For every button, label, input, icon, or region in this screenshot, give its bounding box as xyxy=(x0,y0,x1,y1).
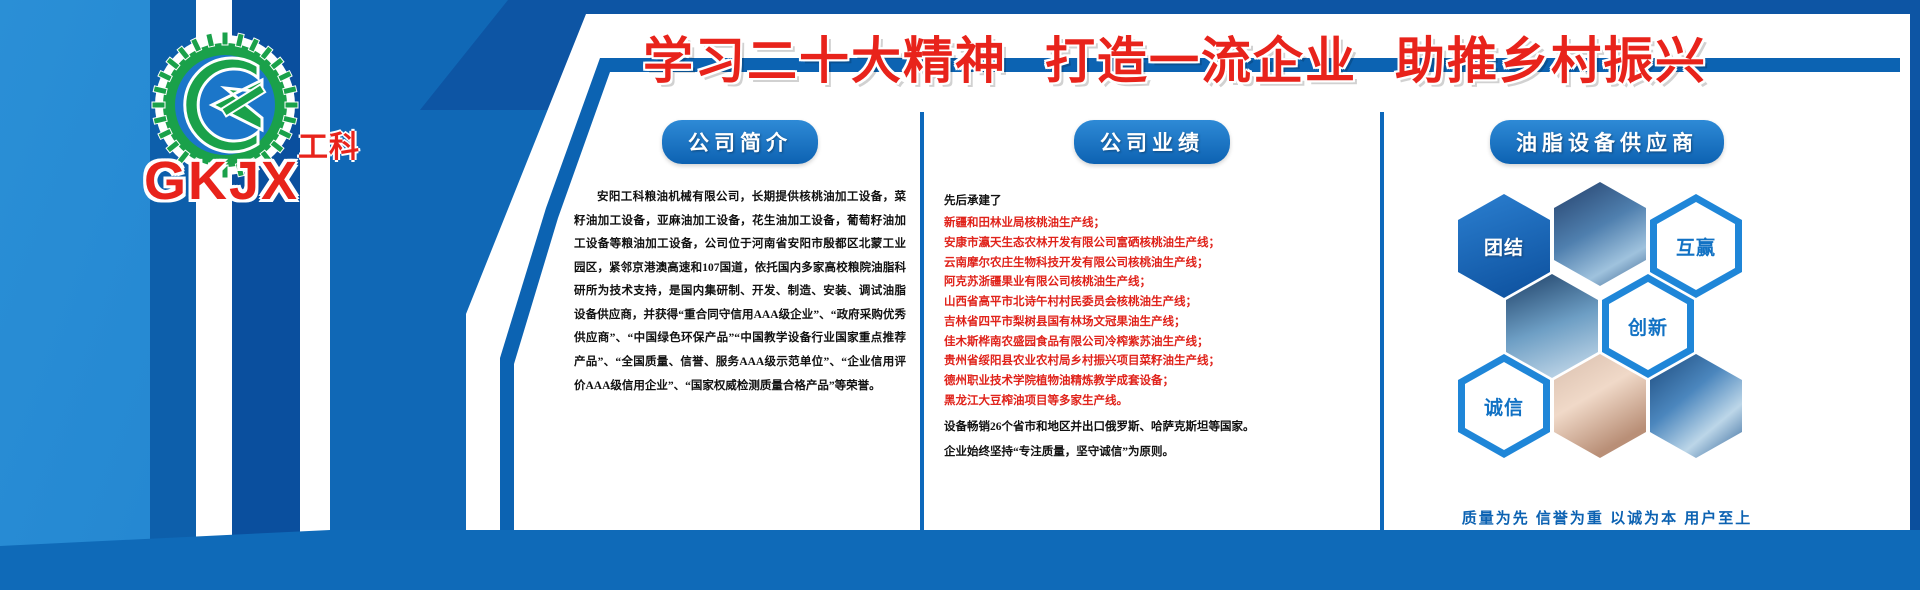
hex-huying: 互赢 xyxy=(1650,194,1742,298)
list-item: 黑龙江大豆榨油项目等多家生产线。 xyxy=(944,392,1360,412)
list-item: 新疆和田林业局核桃油生产线； xyxy=(944,214,1360,234)
panel-oil-equipment-supplier: 油脂设备供应商 团结 互赢 创新 诚信 xyxy=(1380,112,1830,532)
hex-tuanjie: 团结 xyxy=(1458,194,1550,298)
building-photo-icon xyxy=(1650,354,1742,458)
hex-label: 创新 xyxy=(1628,313,1668,340)
industry-photo-icon xyxy=(1506,274,1598,378)
hex-cluster: 团结 互赢 创新 诚信 xyxy=(1400,182,1820,472)
list-item: 佳木斯桦南农盛园食品有限公司冷榨紫苏油生产线； xyxy=(944,333,1360,353)
company-logo: 工科 GKJX xyxy=(120,30,380,240)
list-item: 吉林省四平市梨树县国有林场文冠果油生产线； xyxy=(944,313,1360,333)
achievements-tail-2: 企业始终坚持“专注质量，坚守诚信”为原则。 xyxy=(944,443,1360,463)
headline-part-3: 助推乡村振兴 xyxy=(1395,21,1707,93)
achievements-tail-1: 设备畅销26个省市和地区并出口俄罗斯、哈萨克斯坦等国家。 xyxy=(944,418,1360,438)
hex-chuangxin: 创新 xyxy=(1602,274,1694,378)
headline-part-1: 学习二十大精神 xyxy=(643,21,1007,93)
list-item: 云南摩尔农庄生物科技开发有限公司核桃油生产线； xyxy=(944,254,1360,274)
logo-english-text: GKJX xyxy=(144,150,299,212)
hex-label: 互赢 xyxy=(1676,233,1716,260)
panel-title-achievements: 公司业绩 xyxy=(1074,120,1230,164)
panel-company-profile: 公司简介 安阳工科粮油机械有限公司，长期提供核桃油加工设备，菜籽油加工设备，亚麻… xyxy=(560,112,920,532)
handshake-photo-icon xyxy=(1554,354,1646,458)
list-item: 安康市瀛天生态农林开发有限公司富硒核桃油生产线； xyxy=(944,234,1360,254)
content-columns: 公司简介 安阳工科粮油机械有限公司，长期提供核桃油加工设备，菜籽油加工设备，亚麻… xyxy=(560,112,1890,532)
hex-label: 团结 xyxy=(1484,233,1524,260)
list-item: 贵州省绥阳县农业农村局乡村振兴项目菜籽油生产线； xyxy=(944,352,1360,372)
logo-chinese-text: 工科 xyxy=(298,122,360,166)
list-item: 山西省高平市北诗午村村民委员会核桃油生产线； xyxy=(944,293,1360,313)
list-item: 阿克苏浙疆果业有限公司核桃油生产线； xyxy=(944,273,1360,293)
ship-photo-icon xyxy=(1554,182,1646,286)
panel-title-profile: 公司简介 xyxy=(662,120,818,164)
company-profile-text: 安阳工科粮油机械有限公司，长期提供核桃油加工设备，菜籽油加工设备，亚麻油加工设备… xyxy=(574,186,906,398)
list-item: 德州职业技术学院植物油精炼教学成套设备； xyxy=(944,372,1360,392)
supplier-slogan: 质量为先 信誉为重 以诚为本 用户至上 xyxy=(1384,507,1830,528)
panel-company-achievements: 公司业绩 先后承建了 新疆和田林业局核桃油生产线； 安康市瀛天生态农林开发有限公… xyxy=(920,112,1380,532)
achievements-list: 新疆和田林业局核桃油生产线； 安康市瀛天生态农林开发有限公司富硒核桃油生产线； … xyxy=(944,214,1360,412)
hex-label: 诚信 xyxy=(1484,393,1524,420)
hex-chengxin: 诚信 xyxy=(1458,354,1550,458)
bottom-blue-band xyxy=(0,530,1920,590)
poster-board: 学习二十大精神 打造一流企业 助推乡村振兴 xyxy=(0,0,1920,590)
achievements-lead: 先后承建了 xyxy=(944,192,1360,208)
headline-part-2: 打造一流企业 xyxy=(1045,21,1357,93)
panel-title-supplier: 油脂设备供应商 xyxy=(1490,120,1724,164)
page-title: 学习二十大精神 打造一流企业 助推乡村振兴 xyxy=(440,18,1910,96)
